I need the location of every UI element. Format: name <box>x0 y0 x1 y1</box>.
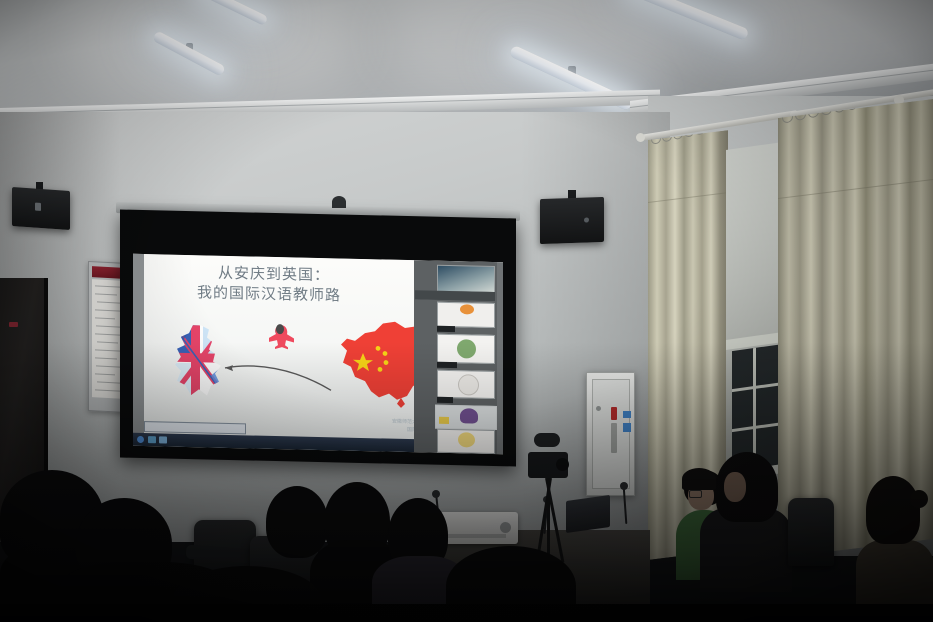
start-button[interactable] <box>137 436 144 443</box>
slide-thumbnail[interactable] <box>437 265 495 293</box>
thumbnail-label <box>437 326 455 332</box>
thumbnail-label <box>437 362 457 368</box>
travel-arrow <box>221 356 337 395</box>
rail-header-bar <box>415 290 495 301</box>
projector-lens <box>500 522 511 533</box>
ceiling-table-projector <box>440 512 518 544</box>
microphone-head <box>620 482 628 490</box>
foreground-shadow <box>0 604 933 622</box>
panel-knob <box>596 406 601 411</box>
taskbar-window-title[interactable] <box>144 421 246 434</box>
blue-label <box>623 411 631 418</box>
tripod-leg <box>547 478 550 562</box>
airplane-icon <box>267 323 295 350</box>
wall-speaker-left <box>12 187 70 230</box>
video-camera-lens <box>556 458 569 471</box>
hair-bun <box>910 490 928 508</box>
lecture-hall-photo: 从安庆到英国： 我的国际汉语教师路 <box>0 0 933 622</box>
projected-slide: 从安庆到英国： 我的国际汉语教师路 <box>133 254 503 454</box>
status-led-red <box>611 407 617 420</box>
screen-roller-cap <box>332 196 346 208</box>
audience-hair <box>866 476 920 544</box>
wall-speaker-right <box>540 197 604 244</box>
panelist-chair[interactable] <box>788 498 834 566</box>
slide-thumbnail[interactable] <box>437 370 495 399</box>
speaker-port <box>35 203 41 211</box>
door-sign <box>9 322 18 327</box>
panelist-dark-coat <box>700 452 794 592</box>
audience-member-8 <box>856 476 933 622</box>
electrical-distribution-box <box>586 372 635 496</box>
video-camera-handle <box>534 433 560 447</box>
slide-thumbnail[interactable] <box>437 429 495 454</box>
window-mullion <box>753 348 756 468</box>
breaker-switch <box>611 423 617 453</box>
speaker-port <box>584 217 589 222</box>
slide-thumbnail[interactable] <box>437 334 495 364</box>
taskbar-app[interactable] <box>148 436 156 443</box>
taskbar-app[interactable] <box>159 436 167 443</box>
slide-right-bar <box>497 262 503 454</box>
panelist-face <box>724 472 746 502</box>
united-kingdom-flag-map <box>171 323 227 399</box>
blue-label <box>623 423 631 432</box>
slide-thumbnail[interactable] <box>437 302 495 328</box>
thumbnail-label <box>437 397 453 403</box>
presenter-laptop[interactable] <box>566 495 610 533</box>
microphone-head <box>432 490 440 498</box>
presenter-thumbnail-rail[interactable] <box>414 260 497 454</box>
projector-vent <box>446 534 506 538</box>
audience-member-3 <box>266 486 328 558</box>
slide-thumbnail-selected[interactable] <box>435 405 497 430</box>
curtain-rod-finial <box>636 133 645 142</box>
